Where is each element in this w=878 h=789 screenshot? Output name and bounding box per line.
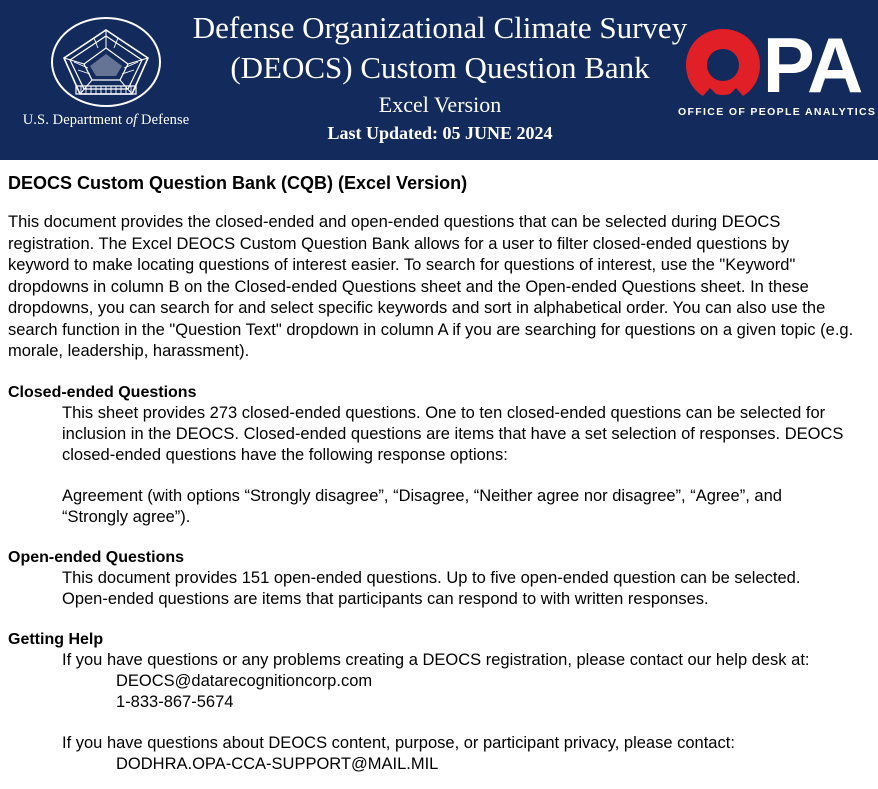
opa-logo-block: PA OFFICE OF PEOPLE ANALYTICS: [678, 28, 868, 118]
help-desk-phone[interactable]: 1-833-867-5674: [116, 692, 864, 713]
opa-logo-mark: PA: [678, 28, 868, 102]
open-ended-paragraph-1: This document provides 151 open-ended qu…: [62, 568, 864, 610]
intro-paragraph: This document provides the closed-ended …: [8, 212, 864, 363]
opa-logo-letters: PA: [763, 28, 862, 102]
section-closed-ended-questions: Closed-ended Questions This sheet provid…: [8, 383, 864, 528]
opa-tagline: OFFICE OF PEOPLE ANALYTICS: [678, 106, 868, 118]
content-support-email[interactable]: DODHRA.OPA-CCA-SUPPORT@MAIL.MIL: [116, 754, 864, 775]
getting-help-paragraph-1: If you have questions or any problems cr…: [62, 650, 864, 671]
department-of-defense-seal-icon: [48, 14, 164, 110]
section-getting-help: Getting Help If you have questions or an…: [8, 630, 864, 775]
document-heading: DEOCS Custom Question Bank (CQB) (Excel …: [8, 172, 864, 194]
section-heading-getting-help: Getting Help: [8, 630, 864, 650]
dod-seal-block: U.S. Department of Defense: [18, 14, 194, 129]
page-title-line-1: Defense Organizational Climate Survey: [170, 8, 710, 48]
getting-help-paragraph-2: If you have questions about DEOCS conten…: [62, 733, 864, 754]
spacer: [8, 713, 864, 733]
last-updated-label: Last Updated: 05 JUNE 2024: [170, 121, 710, 145]
section-open-ended-questions: Open-ended Questions This document provi…: [8, 548, 864, 610]
opa-circle-icon: [685, 28, 761, 102]
page-title-line-2: (DEOCS) Custom Question Bank: [170, 48, 710, 88]
section-heading-closed-ended: Closed-ended Questions: [8, 383, 864, 403]
dod-seal-caption: U.S. Department of Defense: [18, 112, 194, 129]
section-heading-open-ended: Open-ended Questions: [8, 548, 864, 568]
dod-caption-of: of: [126, 112, 137, 128]
header-title-stack: Defense Organizational Climate Survey (D…: [170, 8, 710, 145]
dod-caption-part-1: U.S. Department: [23, 112, 126, 128]
closed-ended-paragraph-2: Agreement (with options “Strongly disagr…: [62, 486, 864, 528]
document-body: DEOCS Custom Question Bank (CQB) (Excel …: [0, 160, 878, 775]
page-header: U.S. Department of Defense Defense Organ…: [0, 0, 878, 160]
page-subtitle: Excel Version: [170, 90, 710, 120]
closed-ended-paragraph-1: This sheet provides 273 closed-ended que…: [62, 403, 864, 466]
help-desk-email[interactable]: DEOCS@datarecognitioncorp.com: [116, 671, 864, 692]
